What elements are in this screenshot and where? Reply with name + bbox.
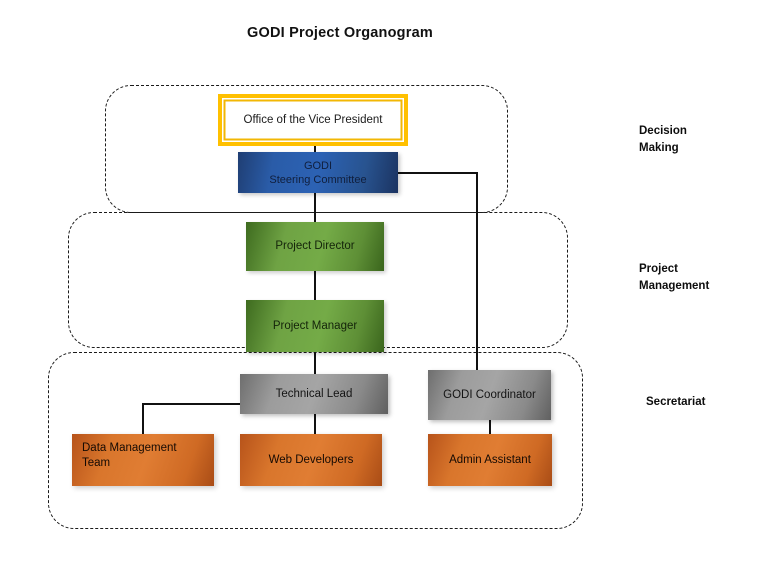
node-office-of-the-vice-president[interactable]: Office of the Vice President [218,94,408,146]
connector-project-director-to-project-manager [314,271,316,300]
node-web-developers[interactable]: Web Developers [240,434,382,486]
connector-technical-lead-to-data-management-horizontal [142,403,247,405]
region-label-decision-making: Decision Making [639,123,687,157]
connector-steering-committee-to-project-director [314,190,316,222]
node-admin-assistant[interactable]: Admin Assistant [428,434,552,486]
organogram-canvas: GODI Project Organogram Office of the Vi… [0,0,776,564]
page-title: GODI Project Organogram [0,25,680,41]
node-project-manager[interactable]: Project Manager [246,300,384,352]
connector-godi-coordinator-to-admin-assistant [489,420,491,435]
connector-steering-committee-to-godi-coordinator-vertical [476,172,478,375]
connector-project-manager-to-technical-lead [314,352,316,374]
node-technical-lead[interactable]: Technical Lead [240,374,388,414]
node-godi-coordinator[interactable]: GODI Coordinator [428,370,551,420]
node-data-management-team[interactable]: Data Management Team [72,434,214,486]
connector-technical-lead-to-data-management-vertical [142,403,144,434]
connector-steering-committee-to-godi-coordinator-horizontal [397,172,478,174]
connector-technical-lead-to-web-developers [314,414,316,434]
region-label-secretariat: Secretariat [646,394,705,411]
node-godi-steering-committee[interactable]: GODI Steering Committee [238,152,398,193]
region-label-project-management: Project Management [639,261,709,295]
node-project-director[interactable]: Project Director [246,222,384,271]
